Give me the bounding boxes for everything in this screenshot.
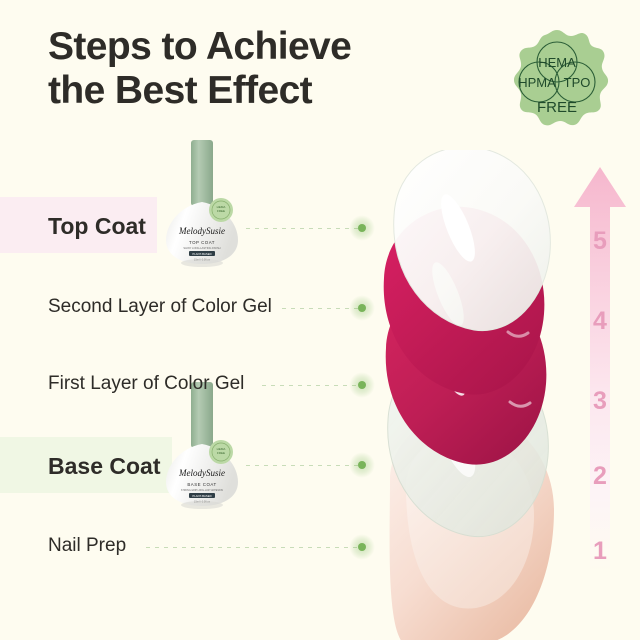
step-label-second-color-gel: Second Layer of Color Gel (48, 296, 272, 318)
bottle-seal-text-2: FREE (217, 451, 225, 455)
step-dot-base-coat (349, 452, 375, 478)
connector-line-top-coat (246, 228, 362, 229)
arrow-number-1: 1 (568, 537, 632, 566)
bottle-volume: 15ml / 0.5fl.oz (194, 258, 211, 262)
step-dot-first-color-gel (349, 372, 375, 398)
step-label-nail-prep: Nail Prep (48, 535, 126, 557)
title-line-1: Steps to Achieve (48, 25, 351, 68)
dashed-line (262, 385, 362, 386)
connector-line-nail-prep (146, 547, 362, 548)
badge-label-tpo: TPO (564, 75, 591, 90)
top-coat-bottle: HEMA FREE MelodySusie TOP COAT SHINY LON… (160, 140, 244, 268)
step-label-top-coat: Top Coat (48, 213, 146, 240)
bottle-brand: MelodySusie (178, 468, 225, 478)
dashed-line (246, 228, 362, 229)
step-label-base-coat: Base Coat (48, 453, 160, 480)
arrow-number-2: 2 (568, 462, 632, 491)
badge-label-hpma: HPMA (518, 75, 556, 90)
bottle-brand: MelodySusie (178, 226, 225, 236)
dot-core (358, 543, 366, 551)
connector-line-first-color-gel (262, 385, 362, 386)
dashed-line (246, 465, 362, 466)
hema-free-badge: HEMA HPMA TPO FREE (503, 28, 611, 138)
badge-label-hema: HEMA (538, 55, 576, 70)
step-order-arrow: 5 4 3 2 1 (568, 165, 632, 575)
step-dot-nail-prep (349, 534, 375, 560)
dot-core (358, 224, 366, 232)
step-dot-top-coat (349, 215, 375, 241)
infographic-canvas: Steps to Achieve the Best Effect HEMA HP… (0, 0, 640, 640)
page-title: Steps to Achieve the Best Effect (48, 25, 408, 113)
bottle-volume: 15ml / 0.5fl.oz (194, 500, 211, 504)
connector-line-base-coat (246, 465, 362, 466)
bottle-tag: PLANT-BASED (192, 494, 211, 498)
step-label-first-color-gel: First Layer of Color Gel (48, 373, 244, 395)
dot-core (358, 461, 366, 469)
arrow-number-4: 4 (568, 307, 632, 336)
bottle-subtitle: SHINY LONG-LASTING FINISH (183, 246, 220, 250)
arrow-number-5: 5 (568, 227, 632, 256)
dashed-line (146, 547, 362, 548)
bottle-seal-text-2: FREE (217, 209, 225, 213)
nail-layer-stack-illustration (372, 150, 592, 640)
bottle-subtitle: STRONG GRIP LONG-LAST ADHESION (181, 489, 224, 492)
bottle-tag: PLANT-BASED (192, 252, 211, 256)
bottle-product: BASE COAT (187, 482, 216, 487)
badge-label-free: FREE (537, 99, 577, 116)
dot-core (358, 304, 366, 312)
arrow-number-3: 3 (568, 387, 632, 416)
bottle-product: TOP COAT (189, 240, 215, 245)
dot-core (358, 381, 366, 389)
step-dot-second-color-gel (349, 295, 375, 321)
title-line-2: the Best Effect (48, 69, 408, 113)
bottle-cap (191, 140, 213, 206)
base-coat-bottle: HEMA FREE MelodySusie BASE COAT STRONG G… (160, 382, 244, 510)
